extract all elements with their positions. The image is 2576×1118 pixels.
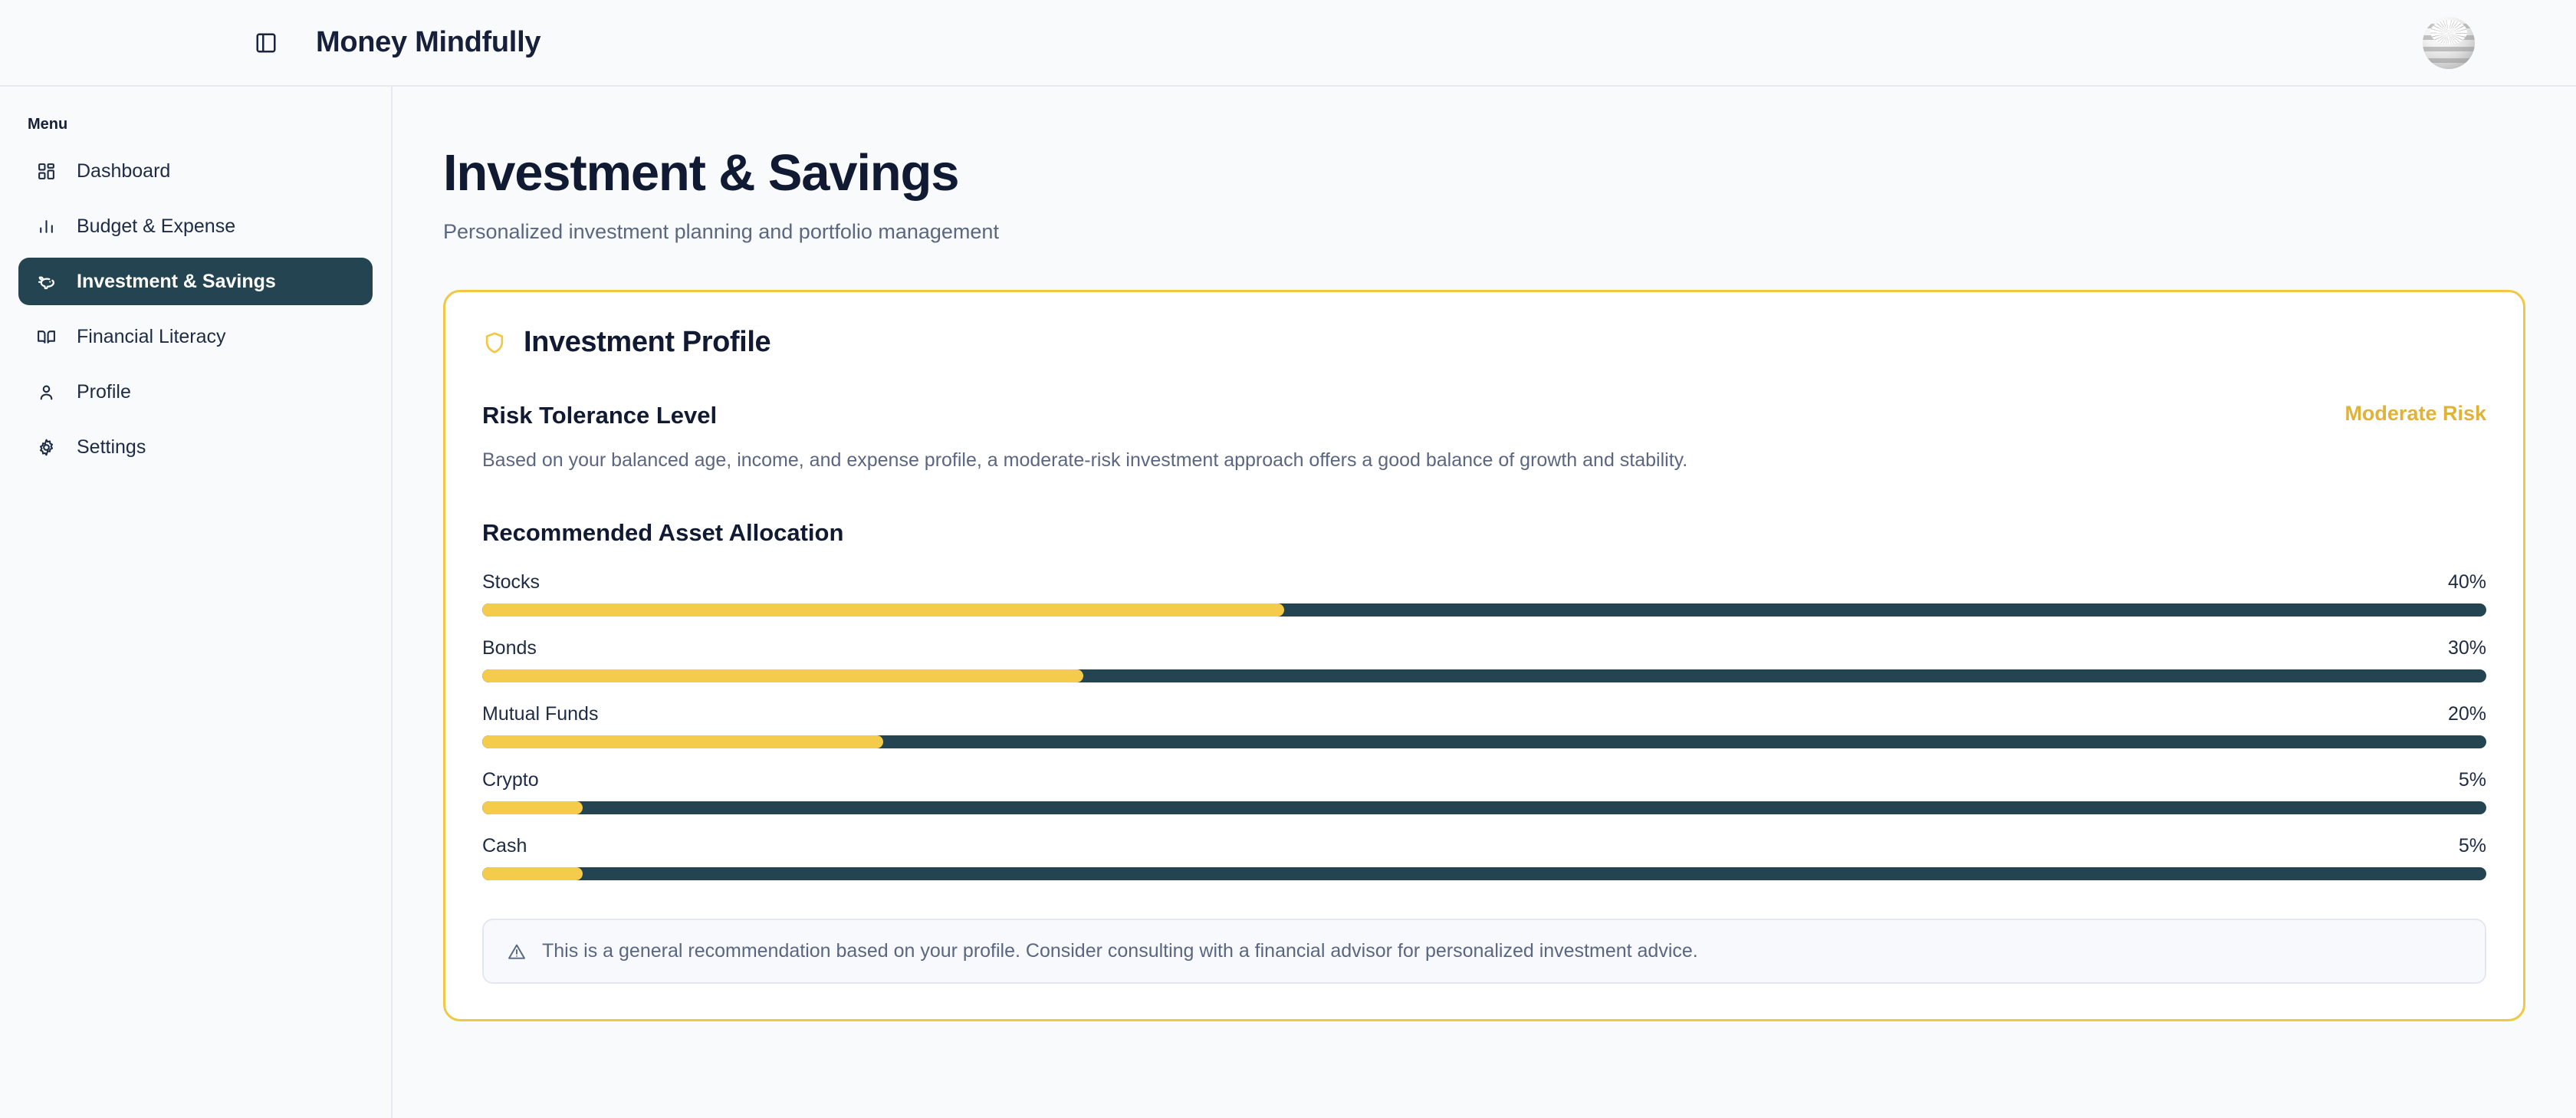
- sidebar-item-label: Profile: [77, 381, 131, 403]
- allocation-progress-track: [482, 735, 2486, 748]
- allocation-percent-label: 5%: [2459, 835, 2486, 857]
- gear-icon: [35, 436, 57, 458]
- layout-grid-icon: [35, 160, 57, 182]
- allocation-row-header: Mutual Funds20%: [482, 703, 2486, 725]
- avatar-dome: [2430, 20, 2468, 45]
- page-subtitle: Personalized investment planning and por…: [443, 220, 2525, 244]
- allocation-row-header: Crypto5%: [482, 769, 2486, 791]
- sidebar-item-label: Dashboard: [77, 160, 170, 182]
- sidebar-item-label: Financial Literacy: [77, 326, 226, 348]
- allocation-row-header: Bonds30%: [482, 637, 2486, 659]
- allocation-row: Mutual Funds20%: [482, 703, 2486, 748]
- allocation-row: Stocks40%: [482, 571, 2486, 617]
- sidebar-item-dashboard[interactable]: Dashboard: [18, 147, 373, 195]
- shield-icon: [482, 330, 507, 355]
- bar-chart-icon: [35, 215, 57, 237]
- risk-level-badge: Moderate Risk: [2344, 402, 2486, 426]
- risk-tolerance-row: Risk Tolerance Level Moderate Risk: [482, 402, 2486, 429]
- allocation-progress-track: [482, 603, 2486, 617]
- allocation-percent-label: 20%: [2448, 703, 2486, 725]
- allocation-percent-label: 5%: [2459, 769, 2486, 791]
- allocation-row: Cash5%: [482, 835, 2486, 880]
- body-wrapper: Menu Dashboard: [0, 87, 2576, 1118]
- allocation-progress-track: [482, 669, 2486, 682]
- disclaimer-note: This is a general recommendation based o…: [482, 919, 2486, 984]
- piggy-bank-icon: [35, 271, 57, 292]
- top-bar: Money Mindfully: [0, 0, 2576, 87]
- allocation-progress-fill: [482, 735, 883, 748]
- card-header: Investment Profile: [482, 326, 2486, 359]
- sidebar-item-label: Settings: [77, 436, 146, 459]
- allocation-percent-label: 40%: [2448, 571, 2486, 594]
- allocation-progress-track: [482, 867, 2486, 880]
- user-icon: [35, 381, 57, 403]
- sidebar-toggle-icon[interactable]: [253, 30, 279, 56]
- sidebar-item-label: Investment & Savings: [77, 271, 276, 293]
- page-title: Investment & Savings: [443, 146, 2525, 200]
- allocation-asset-name: Cash: [482, 835, 527, 857]
- allocation-asset-name: Stocks: [482, 571, 540, 594]
- sidebar-item-settings[interactable]: Settings: [18, 423, 373, 471]
- sidebar: Menu Dashboard: [0, 87, 393, 1118]
- sidebar-item-profile[interactable]: Profile: [18, 368, 373, 416]
- allocation-progress-track: [482, 801, 2486, 814]
- allocation-asset-name: Bonds: [482, 637, 537, 659]
- allocation-row-header: Cash5%: [482, 835, 2486, 857]
- risk-description: Based on your balanced age, income, and …: [482, 449, 2486, 472]
- allocation-list: Stocks40%Bonds30%Mutual Funds20%Crypto5%…: [482, 571, 2486, 880]
- app-brand-title: Money Mindfully: [316, 26, 540, 59]
- disclaimer-text: This is a general recommendation based o…: [542, 940, 1698, 962]
- allocation-row: Bonds30%: [482, 637, 2486, 682]
- alert-triangle-icon: [507, 942, 527, 962]
- sidebar-item-budget-expense[interactable]: Budget & Expense: [18, 202, 373, 250]
- user-avatar[interactable]: [2423, 17, 2475, 69]
- allocation-percent-label: 30%: [2448, 637, 2486, 659]
- card-title: Investment Profile: [524, 326, 770, 359]
- allocation-asset-name: Mutual Funds: [482, 703, 598, 725]
- allocation-progress-fill: [482, 603, 1284, 617]
- risk-tolerance-label: Risk Tolerance Level: [482, 402, 717, 429]
- sidebar-item-investment-savings[interactable]: Investment & Savings: [18, 258, 373, 305]
- allocation-section-title: Recommended Asset Allocation: [482, 519, 2486, 547]
- book-open-icon: [35, 326, 57, 347]
- investment-profile-card: Investment Profile Risk Tolerance Level …: [443, 290, 2525, 1021]
- allocation-row-header: Stocks40%: [482, 571, 2486, 594]
- allocation-progress-fill: [482, 669, 1083, 682]
- app-root: Money Mindfully Menu Dashboard: [0, 0, 2576, 1118]
- allocation-progress-fill: [482, 801, 583, 814]
- sidebar-menu-label: Menu: [18, 108, 373, 147]
- allocation-asset-name: Crypto: [482, 769, 539, 791]
- sidebar-item-label: Budget & Expense: [77, 215, 235, 238]
- main-content: Investment & Savings Personalized invest…: [393, 87, 2576, 1118]
- sidebar-item-financial-literacy[interactable]: Financial Literacy: [18, 313, 373, 360]
- allocation-row: Crypto5%: [482, 769, 2486, 814]
- allocation-progress-fill: [482, 867, 583, 880]
